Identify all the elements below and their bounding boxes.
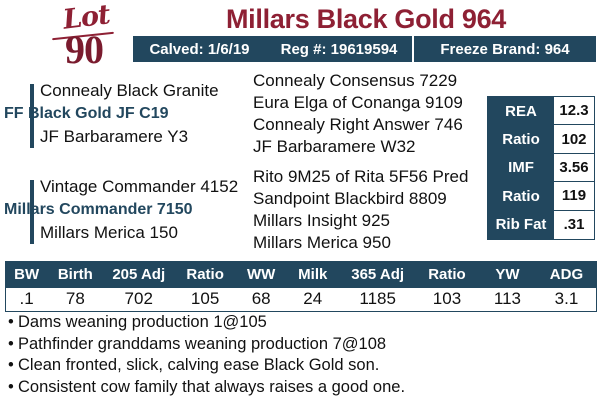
note-text: Pathfinder granddams weaning production … xyxy=(18,335,386,353)
list-item: •Dams weaning production 1@105 xyxy=(8,312,588,334)
table-header-row: BW Birth 205 Adj Ratio WW Milk 365 Adj R… xyxy=(6,262,596,288)
dam-grandparent-2: Sandpoint Blackbird 8809 xyxy=(253,188,447,210)
col-header-yw: YW xyxy=(478,262,537,288)
list-item: •Clean fronted, slick, calving ease Blac… xyxy=(8,355,588,377)
carcass-row: Rib Fat .31 xyxy=(488,211,594,239)
cell-ww-ratio: 105 xyxy=(174,288,236,312)
info-freeze-brand: Freeze Brand: 964 xyxy=(414,41,596,58)
cell-365-adj: 1185 xyxy=(339,288,416,312)
carcass-value-rib-fat: .31 xyxy=(554,211,594,239)
info-registration: Reg #: 19619594 xyxy=(266,41,412,58)
carcass-label-rib-fat: Rib Fat xyxy=(488,211,554,239)
animal-info-bar: Calved: 1/6/19 Reg #: 19619594 Freeze Br… xyxy=(133,36,596,62)
notes-list: •Dams weaning production 1@105 •Pathfind… xyxy=(8,312,588,398)
lot-number: 90 xyxy=(38,30,130,70)
dam-sire-name: Vintage Commander 4152 xyxy=(40,176,238,198)
pedigree-grandparents-column: Connealy Consensus 7229 Eura Elga of Con… xyxy=(253,70,493,246)
col-header-adg: ADG xyxy=(537,262,596,288)
sire-dam-name: JF Barbaramere Y3 xyxy=(40,126,188,148)
carcass-label-imf-ratio: Ratio xyxy=(488,182,554,210)
col-header-ww-ratio: Ratio xyxy=(174,262,236,288)
performance-table: BW Birth 205 Adj Ratio WW Milk 365 Adj R… xyxy=(5,261,597,312)
carcass-label-rea-ratio: Ratio xyxy=(488,125,554,153)
col-header-365-adj: 365 Adj xyxy=(339,262,416,288)
note-text: Dams weaning production 1@105 xyxy=(18,313,267,331)
bullet-icon: • xyxy=(8,334,18,356)
carcass-row: Ratio 119 xyxy=(488,182,594,210)
bullet-icon: • xyxy=(8,312,18,334)
carcass-label-rea: REA xyxy=(488,97,554,125)
sire-name: FF Black Gold JF C19 xyxy=(4,103,168,125)
list-item: •Pathfinder granddams weaning production… xyxy=(8,334,588,356)
cell-milk: 24 xyxy=(286,288,339,312)
cell-yw-ratio: 103 xyxy=(416,288,478,312)
sire-grandparent-4: JF Barbaramere W32 xyxy=(253,136,416,158)
bullet-icon: • xyxy=(8,355,18,377)
col-header-ww: WW xyxy=(236,262,286,288)
lot-badge: Lot 90 xyxy=(38,4,130,68)
carcass-value-rea: 12.3 xyxy=(554,97,594,125)
col-header-205-adj: 205 Adj xyxy=(103,262,174,288)
dam-dam-name: Millars Merica 150 xyxy=(40,222,178,244)
cell-bw: .1 xyxy=(6,288,47,312)
col-header-bw: BW xyxy=(6,262,47,288)
page-title: Millars Black Gold 964 xyxy=(133,3,599,35)
note-text: Clean fronted, slick, calving ease Black… xyxy=(18,356,379,374)
carcass-row: Ratio 102 xyxy=(488,125,594,153)
cell-birth: 78 xyxy=(47,288,103,312)
dam-grandparent-1: Rito 9M25 of Rita 5F56 Pred xyxy=(253,166,468,188)
sire-grandparent-3: Connealy Right Answer 746 xyxy=(253,114,463,136)
sire-grandparent-1: Connealy Consensus 7229 xyxy=(253,70,457,92)
info-calved: Calved: 1/6/19 xyxy=(133,41,266,58)
cell-adg: 3.1 xyxy=(537,288,596,312)
cell-yw: 113 xyxy=(478,288,537,312)
carcass-label-imf: IMF xyxy=(488,154,554,182)
col-header-milk: Milk xyxy=(286,262,339,288)
list-item: •Consistent cow family that always raise… xyxy=(8,377,588,399)
pedigree-parents-column: Connealy Black Granite FF Black Gold JF … xyxy=(0,70,250,246)
carcass-value-imf: 3.56 xyxy=(554,154,594,182)
carcass-value-rea-ratio: 102 xyxy=(554,125,594,153)
carcass-value-imf-ratio: 119 xyxy=(554,182,594,210)
carcass-data-table: REA 12.3 Ratio 102 IMF 3.56 Ratio 119 Ri… xyxy=(487,96,595,240)
col-header-yw-ratio: Ratio xyxy=(416,262,478,288)
sire-grandparent-2: Eura Elga of Conanga 9109 xyxy=(253,92,463,114)
col-header-birth: Birth xyxy=(47,262,103,288)
carcass-row: REA 12.3 xyxy=(488,97,594,125)
table-row: .1 78 702 105 68 24 1185 103 113 3.1 xyxy=(6,288,596,312)
sale-catalog-lot-page: Lot 90 Millars Black Gold 964 Calved: 1/… xyxy=(0,0,602,405)
carcass-row: IMF 3.56 xyxy=(488,154,594,182)
note-text: Consistent cow family that always raises… xyxy=(18,378,405,396)
dam-grandparent-3: Millars Insight 925 xyxy=(253,210,390,232)
bullet-icon: • xyxy=(8,377,18,399)
dam-grandparent-4: Millars Merica 950 xyxy=(253,232,391,254)
dam-name: Millars Commander 7150 xyxy=(4,199,193,221)
sire-sire-name: Connealy Black Granite xyxy=(40,80,219,102)
cell-205-adj: 702 xyxy=(103,288,174,312)
cell-ww: 68 xyxy=(236,288,286,312)
